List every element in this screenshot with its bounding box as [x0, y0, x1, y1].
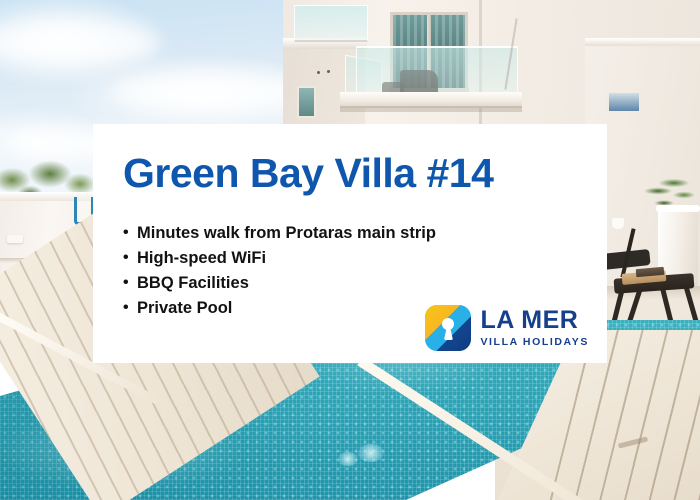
brand-logo: LA MER VILLA HOLIDAYS [425, 305, 589, 351]
villa-wing-parapet [585, 38, 700, 46]
wall-fixture-dot [317, 71, 320, 74]
planter-rim [656, 205, 700, 212]
logo-brand-name: LA MER [480, 308, 589, 333]
info-card: Green Bay Villa #14 Minutes walk from Pr… [93, 124, 607, 363]
page-title: Green Bay Villa #14 [123, 152, 577, 195]
list-item: BBQ Facilities [123, 271, 577, 296]
list-item: Minutes walk from Protaras main strip [123, 221, 577, 246]
terrace-cup [612, 218, 624, 229]
villa-window [297, 86, 316, 118]
pool-light [358, 444, 384, 462]
balcony-underside-shadow [340, 106, 522, 112]
wall-light-box [7, 235, 23, 243]
wall-fixture-dot [327, 70, 330, 73]
villa-window [607, 91, 641, 113]
logo-wordmark: LA MER VILLA HOLIDAYS [480, 308, 589, 348]
villa-promo-screenshot: Green Bay Villa #14 Minutes walk from Pr… [0, 0, 700, 500]
padlock-keyhole-icon [425, 305, 471, 351]
logo-tagline: VILLA HOLIDAYS [480, 337, 589, 348]
balcony-glass-panel [356, 46, 518, 97]
list-item: High-speed WiFi [123, 246, 577, 271]
roof-glass-railing [294, 5, 368, 42]
pool-light [338, 452, 358, 466]
